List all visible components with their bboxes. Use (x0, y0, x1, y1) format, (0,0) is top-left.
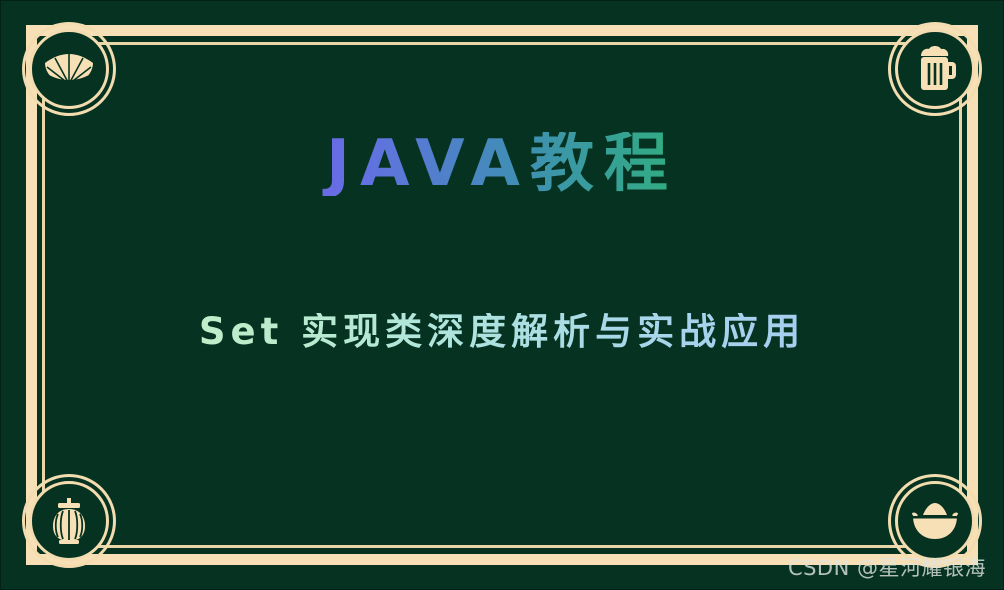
corner-medallion-top-right (888, 22, 982, 116)
corner-medallion-top-left (22, 22, 116, 116)
lantern-icon (29, 481, 109, 561)
beer-mug-icon (895, 29, 975, 109)
frame-inner-line (42, 42, 962, 548)
poster-canvas: JAVA教程 Set 实现类深度解析与实战应用 CSDN @星河耀银海 (0, 0, 1004, 590)
corner-medallion-bottom-left (22, 474, 116, 568)
folding-fan-icon (29, 29, 109, 109)
watermark-credit: CSDN @星河耀银海 (788, 552, 986, 582)
rice-bowl-icon (895, 481, 975, 561)
